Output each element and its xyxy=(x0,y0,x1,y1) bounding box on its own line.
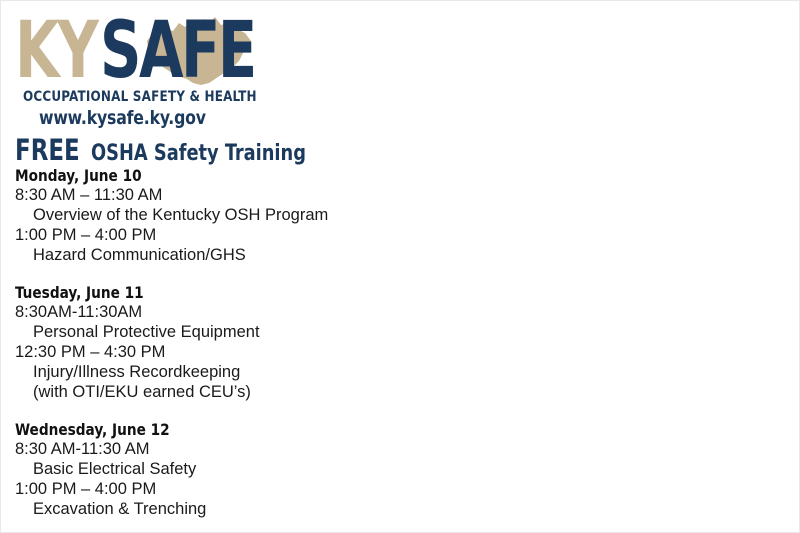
session-course: Basic Electrical Safety xyxy=(15,459,535,479)
session-time: 12:30 PM – 4:30 PM xyxy=(15,342,535,362)
logo-text-ky: KY xyxy=(15,11,96,91)
day-heading: Wednesday, June 12 xyxy=(15,420,509,439)
day-block: Monday, June 108:30 AM – 11:30 AMOvervie… xyxy=(15,166,535,265)
day-heading: Monday, June 10 xyxy=(15,166,509,185)
session-course: Excavation & Trenching xyxy=(15,499,535,519)
logo-website: www.kysafe.ky.gov xyxy=(39,107,206,129)
logo-mark: KYSAFE xyxy=(15,11,265,91)
day-block: Wednesday, June 128:30 AM-11:30 AMBasic … xyxy=(15,420,535,519)
session-course: Personal Protective Equipment xyxy=(15,322,535,342)
session-time: 8:30 AM – 11:30 AM xyxy=(15,185,535,205)
kysafe-logo: KYSAFE OCCUPATIONAL SAFETY & HEALTH www.… xyxy=(15,11,335,131)
session-course: Hazard Communication/GHS xyxy=(15,245,535,265)
logo-tagline: OCCUPATIONAL SAFETY & HEALTH xyxy=(23,89,257,105)
flyer-page: KYSAFE OCCUPATIONAL SAFETY & HEALTH www.… xyxy=(0,0,800,533)
logo-text-safe: SAFE xyxy=(100,11,255,91)
title-free: FREE xyxy=(15,133,80,167)
session-course: Injury/Illness Recordkeeping xyxy=(15,362,535,382)
session-time: 8:30AM-11:30AM xyxy=(15,302,535,322)
day-block: Tuesday, June 118:30AM-11:30AMPersonal P… xyxy=(15,283,535,402)
session-time: 8:30 AM-11:30 AM xyxy=(15,439,535,459)
session-time: 1:00 PM – 4:00 PM xyxy=(15,225,535,245)
session-time: 1:00 PM – 4:00 PM xyxy=(15,479,535,499)
logo-wordmark: KYSAFE xyxy=(15,11,265,91)
training-schedule: Monday, June 108:30 AM – 11:30 AMOvervie… xyxy=(15,166,535,533)
session-course: Overview of the Kentucky OSH Program xyxy=(15,205,535,225)
title-rest: OSHA Safety Training xyxy=(91,141,306,166)
day-heading: Tuesday, June 11 xyxy=(15,283,509,302)
page-title: FREEOSHA Safety Training xyxy=(15,133,329,167)
session-note: (with OTI/EKU earned CEU’s) xyxy=(15,382,535,402)
